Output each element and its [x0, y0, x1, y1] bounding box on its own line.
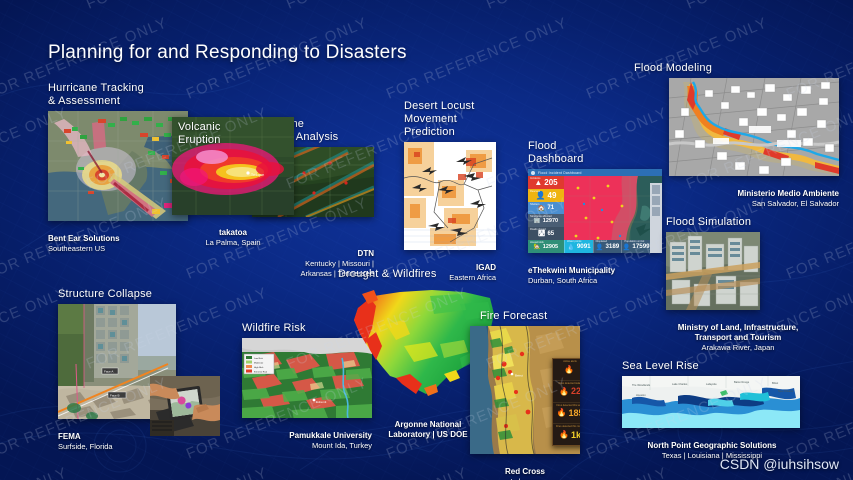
tile-flood-simulation[interactable]: Flood Simulation: [658, 216, 818, 363]
page-title: Planning for and Responding to Disasters: [48, 42, 407, 64]
kpi-card[interactable]: Fires detected this month 🔥 1k: [553, 424, 580, 445]
kpi-label: Roads closed: [530, 228, 546, 231]
kpi-value: 49: [548, 191, 557, 200]
tile-hurricane-tracking[interactable]: Hurricane Tracking & Assessment: [48, 82, 188, 264]
svg-text:Baton Rouge: Baton Rouge: [734, 380, 750, 384]
caption-org: Red Cross: [505, 467, 545, 476]
tile-fire-forecast[interactable]: Fire Forecast: [470, 310, 595, 480]
kpi-card[interactable]: Fires detected this week 🔥 185: [553, 403, 580, 425]
kpi-label: Active alerts: [553, 360, 580, 363]
credit-watermark: CSDN @iuhsihsow: [720, 456, 839, 472]
home-icon: 🏡: [534, 244, 541, 250]
dashboard-kpi-column: Incidents ▲ 205 Rescues 👤 49 Shelters 🏠: [528, 176, 564, 253]
tile-flood-dashboard[interactable]: Flood Dashboard Flood Incident Dashboard…: [528, 140, 662, 296]
kpi-card[interactable]: Rescues 👤 49: [528, 189, 564, 202]
caption-org: Bent Ear Solutions: [48, 234, 120, 243]
svg-text:Face B: Face B: [110, 394, 120, 398]
tile-heading: Structure Collapse: [58, 288, 176, 301]
field-tablet-photo[interactable]: [150, 376, 220, 436]
tile-sea-level-rise[interactable]: Sea Level Rise The Woodlands Lake Charle: [622, 360, 802, 471]
watermark-text: FOR REFERENCE ONLY: [284, 0, 470, 13]
svg-text:Edremit: Edremit: [316, 400, 327, 404]
tile-desert-locust[interactable]: Desert Locust Movement Prediction: [404, 100, 496, 293]
watermark-text: FOR REFERENCE ONLY: [84, 0, 270, 13]
caption-org: Ministerio Medio Ambiente: [738, 189, 840, 198]
watermark-text: FOR REFERENCE ONLY: [384, 14, 570, 102]
app-menu-icon[interactable]: [531, 171, 535, 175]
kpi-value: 65: [547, 231, 554, 237]
svg-text:Lake Charles: Lake Charles: [672, 382, 688, 386]
kpi-card[interactable]: Active alerts 🔥: [553, 359, 580, 381]
tile-caption: Red Cross Lebanon: [470, 457, 580, 480]
tile-heading: Flood Modeling: [634, 62, 839, 75]
kpi-label: Households: [530, 241, 544, 244]
flood-dashboard-app[interactable]: Flood Incident Dashboard Incidents ▲ 205…: [528, 169, 662, 253]
tile-caption: takatoa La Palma, Spain: [172, 218, 294, 258]
tile-heading: Hurricane Tracking & Assessment: [48, 82, 188, 108]
kpi-label: Rescues: [530, 190, 540, 193]
fire-forecast-kpi-card[interactable]: Active alerts 🔥 Fires detected today 🔥 2…: [552, 358, 580, 446]
kpi-value: 22: [571, 386, 580, 396]
dashboard-bottom-kpis: Water points 💧 9091 Displaced 👤 3189 Pop…: [564, 240, 650, 253]
sea-level-map-image[interactable]: The Woodlands Lake Charles Lafayette Bat…: [622, 376, 800, 428]
kpi-card[interactable]: Water points 💧 9091: [564, 240, 593, 253]
svg-text:Moderate: Moderate: [254, 361, 264, 364]
kpi-card[interactable]: Incidents ▲ 205: [528, 176, 564, 189]
kpi-card[interactable]: Fires detected today 🔥 22: [553, 381, 580, 403]
kpi-label: Fires detected today: [553, 382, 580, 385]
svg-text:Lafayette: Lafayette: [706, 382, 717, 386]
flood-simulation-image[interactable]: [666, 232, 760, 310]
tile-caption: Ministry of Land, Infrastructure, Transp…: [658, 313, 818, 363]
caption-location: Durban, South Africa: [528, 276, 662, 286]
flood-modeling-3d-image[interactable]: [669, 78, 839, 176]
fire-icon: 🔥: [557, 408, 567, 417]
svg-text:Face A: Face A: [104, 370, 113, 374]
building-icon: 🏢: [534, 218, 541, 224]
kpi-card[interactable]: Population at risk 👤 17599: [621, 240, 650, 253]
caption-org: takatoa: [219, 228, 247, 237]
caption-location: Arakawa River, Japan: [658, 343, 818, 353]
kpi-label: Population at risk: [624, 240, 644, 243]
hurricane-map-image[interactable]: [48, 111, 188, 221]
caption-org: FEMA: [58, 432, 81, 441]
kpi-value: 3189: [605, 243, 619, 250]
panel-block: [652, 196, 660, 205]
svg-text:Beirut: Beirut: [515, 374, 523, 378]
svg-text:The Woodlands: The Woodlands: [632, 383, 651, 387]
svg-text:New Orleans: New Orleans: [778, 389, 794, 393]
person-icon: 👤: [623, 243, 631, 251]
tile-caption: eThekwini Municipality Durban, South Afr…: [528, 256, 662, 296]
watermark-text: FOR REFERENCE ONLY: [684, 0, 853, 13]
fire-icon: 🔥: [559, 430, 569, 439]
kpi-label: Displaced: [596, 240, 607, 243]
kpi-value: 17599: [632, 243, 649, 250]
watermark-text: FOR REFERENCE ONLY: [0, 464, 70, 480]
fire-icon: 🔥: [564, 365, 574, 374]
tile-caption: Bent Ear Solutions Southeastern US: [48, 224, 188, 264]
caption-location: Southeastern US: [48, 244, 188, 254]
panel-block: [652, 185, 660, 194]
kpi-value: 9091: [577, 243, 591, 250]
caption-org: Argonne National Laboratory | US DOE: [388, 420, 467, 439]
panel-block: [652, 207, 660, 216]
watermark-text: FOR REFERENCE ONLY: [0, 0, 70, 13]
svg-text:Biloxi: Biloxi: [772, 381, 779, 385]
tile-caption: Ministerio Medio Ambiente San Salvador, …: [634, 179, 839, 219]
dashboard-titlebar: Flood Incident Dashboard: [528, 169, 662, 176]
watermark-text: FOR REFERENCE ONLY: [484, 0, 670, 13]
caption-location: Surfside, Florida: [58, 442, 176, 452]
kpi-card[interactable]: Structures affected 🏢 12970: [528, 214, 564, 227]
fire-icon: 🔥: [559, 387, 569, 396]
kpi-card[interactable]: Households 🏡 12905: [528, 240, 564, 253]
kpi-value: 12905: [543, 244, 558, 250]
caption-org: eThekwini Municipality: [528, 266, 615, 275]
kpi-value: 71: [547, 205, 554, 211]
tile-heading: Desert Locust Movement Prediction: [404, 100, 496, 139]
person-icon: 👤: [596, 243, 604, 251]
tile-heading: Volcanic Eruption: [178, 121, 230, 147]
caption-org: North Point Geographic Solutions: [648, 441, 777, 450]
caption-location: La Palma, Spain: [172, 238, 294, 248]
fire-forecast-map-image[interactable]: Beirut Active alerts 🔥 Fires detected to…: [470, 326, 580, 454]
tile-volcanic-eruption[interactable]: Todoque Volcanic Eruption takatoa La Pal…: [172, 117, 294, 258]
volcanic-heading-overlay: Volcanic Eruption: [172, 117, 234, 151]
tile-heading: Flood Dashboard: [528, 140, 662, 166]
svg-text:High Risk: High Risk: [254, 367, 264, 369]
kpi-value: 185: [568, 408, 580, 418]
svg-text:Low Risk: Low Risk: [254, 358, 264, 360]
svg-text:Extreme Risk: Extreme Risk: [254, 370, 268, 373]
svg-text:Houston: Houston: [636, 393, 646, 397]
tile-flood-modeling[interactable]: Flood Modeling: [634, 62, 839, 219]
dashboard-window-title: Flood Incident Dashboard: [538, 171, 582, 175]
locust-map-image[interactable]: [404, 142, 496, 250]
caption-org: Ministry of Land, Infrastructure, Transp…: [678, 323, 798, 342]
water-drop-icon: 💧: [567, 243, 575, 251]
kpi-value: 12970: [543, 218, 558, 224]
kpi-label: Water points: [567, 240, 581, 243]
kpi-card[interactable]: Displaced 👤 3189: [593, 240, 622, 253]
kpi-card[interactable]: Shelters 🏠 71: [528, 202, 564, 215]
kpi-value: 1k: [571, 430, 580, 440]
tile-heading: Flood Simulation: [666, 216, 818, 229]
kpi-label: Fires detected this month: [553, 425, 580, 428]
caption-org: DTN: [358, 249, 374, 258]
kpi-value: 205: [544, 178, 557, 187]
svg-text:Todoque: Todoque: [251, 173, 264, 177]
watermark-text: FOR REFERENCE ONLY: [84, 464, 270, 480]
kpi-label: Fires detected this week: [553, 404, 580, 407]
kpi-label: Incidents: [530, 177, 540, 180]
caption-location: San Salvador, El Salvador: [634, 199, 839, 209]
kpi-label: Structures affected: [530, 215, 552, 218]
slide-canvas: Planning for and Responding to Disasters…: [0, 0, 853, 480]
caption-location: Kentucky | Missouri | Arkansas | Tenness…: [252, 259, 374, 279]
watermark-text: FOR REFERENCE ONLY: [284, 464, 470, 480]
kpi-card[interactable]: Roads closed 🛣 65: [528, 227, 564, 240]
kpi-label: Shelters: [530, 203, 540, 206]
tile-heading: Fire Forecast: [480, 310, 595, 323]
